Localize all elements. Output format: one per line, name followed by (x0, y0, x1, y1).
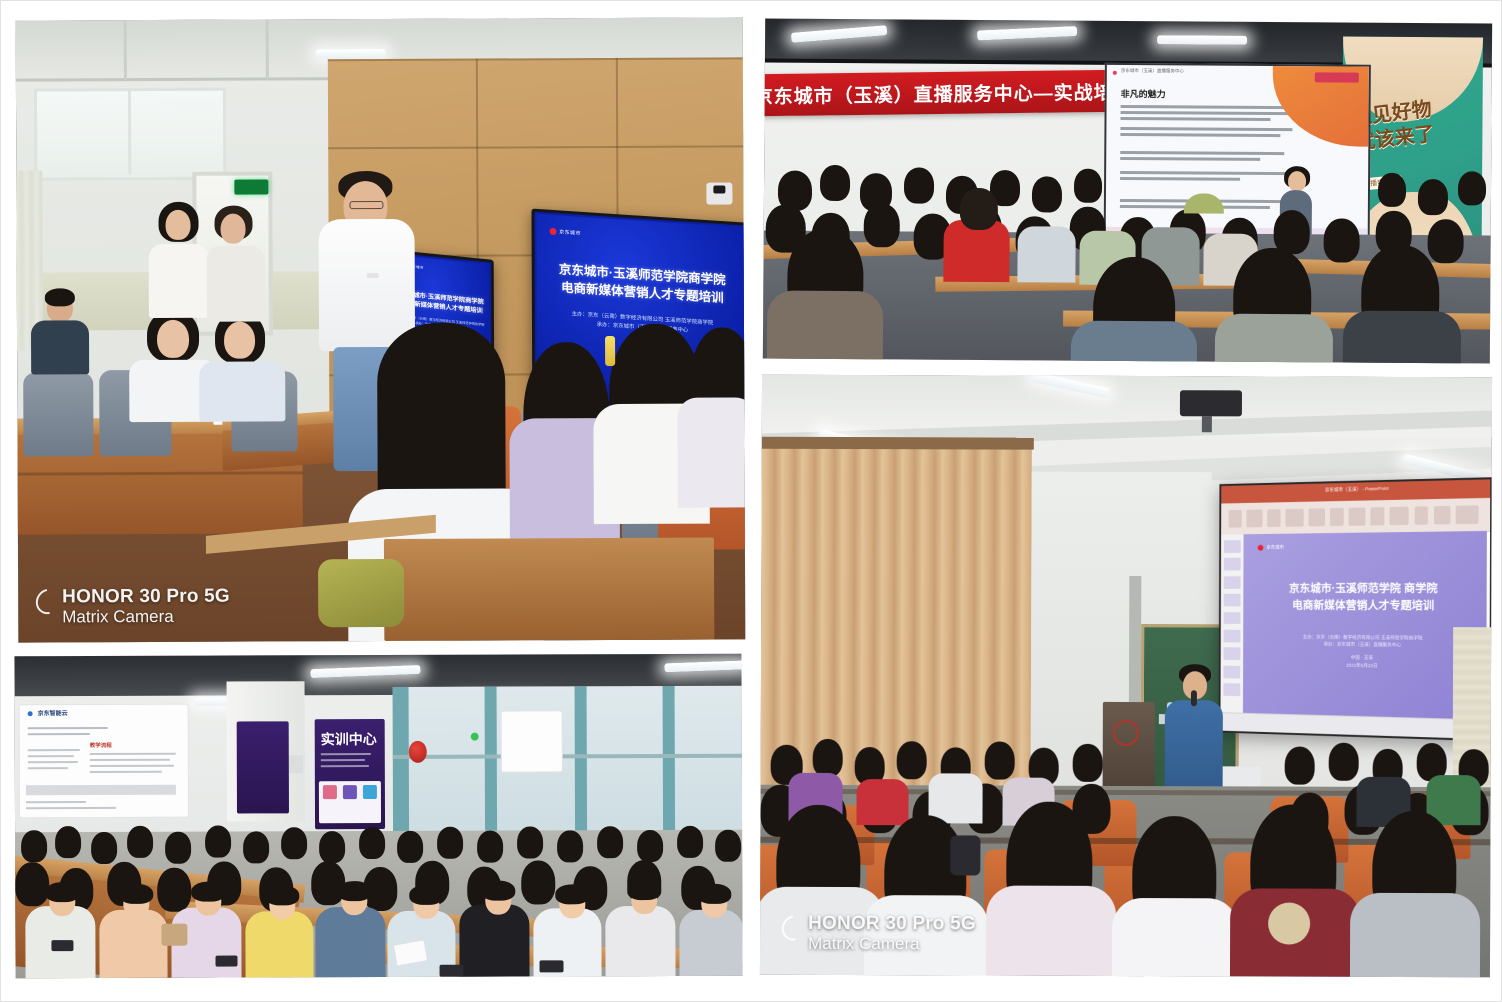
attendee (43, 288, 77, 322)
slide-breadcrumb: 京东城市（玉溪）直播服务中心 (1121, 68, 1184, 74)
attendee-face (409, 885, 443, 919)
jd-logo-icon-ppt (1258, 545, 1264, 551)
ppt-title-line2: 电商新媒体营销人才专题培训 (1289, 597, 1438, 614)
ppt-brand: 京东城市 (1266, 545, 1284, 551)
ppt-ribbon[interactable] (1221, 497, 1490, 535)
ceiling-light (1157, 35, 1247, 45)
attendee-face (119, 884, 153, 918)
bag-print (1268, 902, 1310, 944)
handbag (318, 559, 404, 627)
pillar-sign: 实训中心 (321, 729, 377, 749)
ppt-slide-rail[interactable] (1221, 535, 1245, 715)
ppt-slide-canvas[interactable]: 京东城市 京东城市·玉溪师范学院 商学院 电商新媒体营销人才专题培训 主办：京东… (1243, 531, 1487, 721)
attendee-face (697, 884, 731, 918)
photo-bottom-left: 京东智能云 教学流程 实训中心 (14, 654, 742, 979)
photo-collage: 京东城市 京东城市·玉溪师范学院商学院 电商新媒体营销人才专题培训 主办：京东（… (0, 0, 1502, 1002)
wall-info-board: 京东智能云 教学流程 (19, 704, 189, 819)
backpack (950, 835, 980, 875)
ceiling-light (316, 49, 386, 58)
attendee-face (45, 882, 79, 916)
attendee-face (481, 881, 515, 915)
photo-bottom-right: 京东城市（玉溪） - PowerPoint 京东城市 (760, 375, 1492, 978)
attendee-face (191, 882, 225, 916)
phone (215, 955, 237, 966)
attendee-face (555, 884, 589, 918)
phone (51, 940, 73, 951)
speaker-shirt (319, 219, 416, 351)
phone (540, 960, 564, 972)
ppt-host2: 承办：京东城市（玉溪）直播服务中心 (1303, 641, 1423, 650)
slide-heading: 非凡的魅力 (1121, 87, 1166, 100)
attendee-standing (156, 202, 200, 250)
photo-top-right: 京东城市（玉溪）直播服务中心—实战培训班 玉见好物 就该来了 直播电商节 玉见好… (763, 18, 1492, 363)
handbag (161, 924, 187, 946)
photo-top-left: 京东城市 京东城市·玉溪师范学院商学院 电商新媒体营销人才专题培训 主办：京东（… (16, 17, 746, 642)
ppt-date: 2021年5月22日 (1303, 661, 1423, 671)
attendee-face (337, 881, 371, 915)
banner-text: 京东城市（玉溪）直播服务中心—实战培训班 (763, 77, 1154, 109)
slide-brand-main: 京东城市 (559, 228, 581, 236)
attendee-face (265, 885, 299, 919)
exit-sign-icon (234, 179, 268, 194)
jd-logo-main-icon: 京东城市 (549, 227, 581, 236)
standee-poster (237, 721, 289, 813)
red-lantern (409, 741, 427, 763)
projector (1180, 390, 1242, 416)
projection-screen: 京东城市（玉溪） - PowerPoint 京东城市 (1219, 477, 1492, 741)
phone (440, 965, 464, 977)
wall-card-sub: 教学流程 (90, 741, 112, 749)
wall-card-title: 京东智能云 (38, 708, 68, 717)
attendee-face (627, 880, 661, 914)
ppt-title-line1: 京东城市·玉溪师范学院 商学院 (1289, 581, 1438, 598)
standee-poster: 实训中心 (315, 719, 385, 829)
microphone-icon (1191, 690, 1197, 706)
ppt-app-title: 京东城市（玉溪） - PowerPoint (1325, 486, 1389, 494)
